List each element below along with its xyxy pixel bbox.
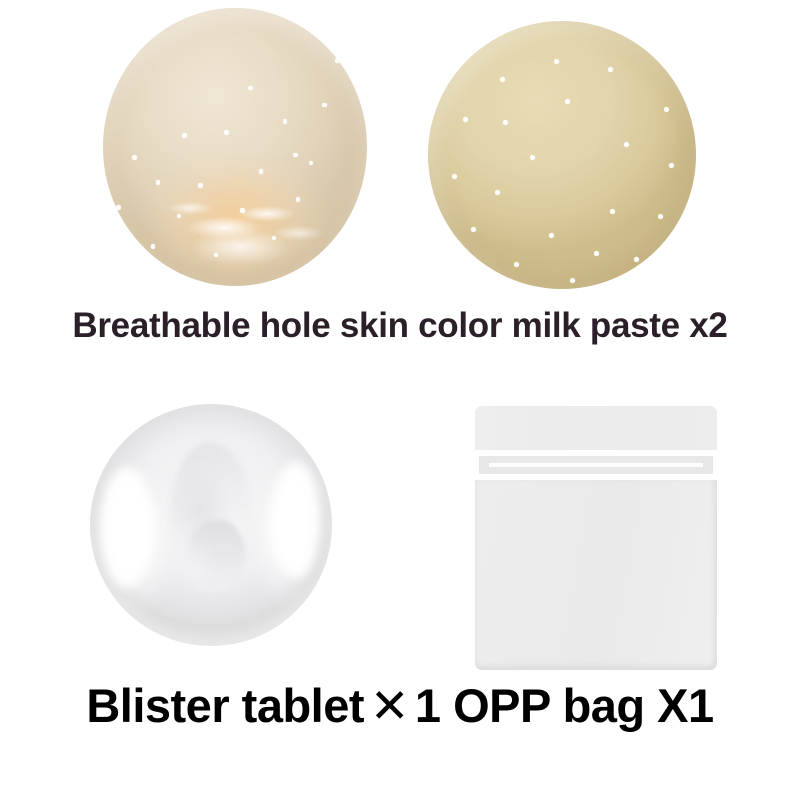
nipple-cover-matte [428,21,696,289]
breathable-hole-dot [634,257,639,262]
breathable-hole-dot [156,180,161,185]
breathable-hole-dot [177,214,182,219]
breathable-hole-dot [514,262,519,267]
breathable-hole-dot [658,214,663,219]
caption-blister-label: Blister tablet [86,679,364,732]
breathable-hole-dot [503,120,508,125]
opp-bag-zip-strip [479,456,713,474]
caption-blister-opp: Blister tablet✕1 OPP bag X1 [0,678,800,734]
multiply-icon: ✕ [364,679,415,732]
breathable-hole-dot [322,103,327,108]
breathable-hole-dot [608,67,613,72]
breathable-hole-dot [248,86,253,91]
blister-highlight-right [272,462,320,578]
blister-inner-fold-lower [187,520,245,593]
opp-bag [475,406,717,670]
breathable-hole-dot [198,183,203,188]
breathable-hole-dot [500,77,505,82]
breathable-hole-dot [565,99,570,104]
breathable-hole-dot [132,155,137,160]
breathable-hole-dot [116,205,121,210]
breathable-hole-dot [554,59,559,64]
breathable-hole-dot [495,190,500,195]
opp-bag-zip-line [489,463,703,467]
breathable-hole-dot [452,174,457,179]
breathable-hole-dot [259,169,264,174]
caption-opp-label: 1 OPP bag X1 [415,679,714,732]
blister-tablet [90,404,332,646]
caption-breathable-hole: Breathable hole skin color milk paste x2 [0,306,800,346]
breathable-hole-dot [530,155,535,160]
breathable-hole-dot [594,251,599,256]
breathable-hole-dot [471,227,476,232]
breathable-hole-dot [570,278,575,283]
breathable-hole-dot [664,107,669,112]
breathable-hole-dot [151,244,156,249]
breathable-hole-dot [610,209,615,214]
breathable-hole-dot [309,161,314,166]
breathable-hole-dot [669,163,674,168]
nipple-cover-glossy [103,8,367,286]
breathable-hole-dot [624,142,629,147]
breathable-hole-dot [293,153,298,158]
opp-bag-body [475,480,717,670]
breathable-hole-dot [224,130,229,135]
breathable-hole-dot [272,236,277,241]
breathable-hole-dot [214,253,219,258]
breathable-hole-dot [283,119,288,124]
product-composite-image: Breathable hole skin color milk paste x2… [0,0,800,800]
breathable-hole-dot [240,208,245,213]
breathable-hole-dot [549,233,554,238]
breathable-hole-dot [296,197,301,202]
breathable-hole-dot [463,117,468,122]
breathable-hole-dot [335,58,340,63]
opp-bag-zip-seal [475,450,717,480]
blister-highlight-left [100,467,153,588]
breathable-hole-dot [182,133,187,138]
